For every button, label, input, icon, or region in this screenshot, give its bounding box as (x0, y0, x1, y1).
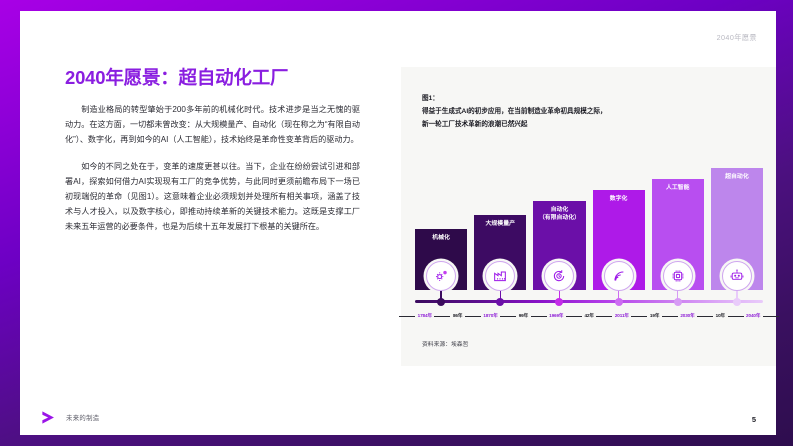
page-number: 5 (752, 415, 756, 424)
bar-label-6: 超自动化 (711, 174, 763, 182)
timeline-dash (596, 316, 612, 317)
timeline-year-2: 1870年 (483, 313, 497, 319)
bar-column: 人工智能 (652, 157, 704, 290)
bar-6: 超自动化 (711, 168, 763, 290)
axis-dot-4 (615, 298, 623, 306)
exhibit-caption: 图1： 得益于生成式AI的初步应用，在当前制造业革命初具规模之际， 新一轮工厂技… (422, 93, 607, 132)
timeline-dash (531, 316, 547, 317)
timeline-dash (500, 316, 516, 317)
axis-dot-5 (674, 298, 682, 306)
timeline-interval-2: 99年 (519, 313, 528, 319)
timeline-interval-5: 10年 (716, 313, 725, 319)
timeline-dash (728, 316, 744, 317)
timeline-year-6: 2040年 (746, 313, 760, 319)
evolution-bar-chart: 机械化大规模量产自动化 （有限自动化）数字化人工智能超自动化 1784年86年1… (415, 153, 763, 323)
timeline-interval-4: 19年 (650, 313, 659, 319)
bar-label-5: 人工智能 (652, 185, 704, 193)
exhibit-source: 资料来源：埃森哲 (422, 339, 468, 348)
timeline-dash (631, 316, 647, 317)
timeline-dash (763, 316, 779, 317)
timeline-year-4: 2011年 (615, 313, 629, 319)
page-title: 2040年愿景：超自动化工厂 (65, 66, 360, 89)
chart-bars: 机械化大规模量产自动化 （有限自动化）数字化人工智能超自动化 (415, 157, 763, 290)
bar-column: 数字化 (593, 157, 645, 290)
body-paragraph-2: 如今的不同之处在于，变革的速度更甚以往。当下，企业在纷纷尝试引进和部署AI，探索… (65, 160, 360, 235)
timeline-year-1: 1784年 (418, 313, 432, 319)
caption-line-2: 新一轮工厂技术革新的浪潮已然兴起 (422, 121, 528, 128)
footer-label: 未来的制造 (66, 413, 99, 422)
timeline-interval-3: 42年 (584, 313, 593, 319)
chart-timeline: 1784年86年1870年99年1969年42年2011年19年2030年10年… (415, 309, 763, 323)
caption-line-1: 得益于生成式AI的初步应用，在当前制造业革命初具规模之际， (422, 108, 607, 115)
axis-dot-3 (555, 298, 563, 306)
footer: 未来的制造 (40, 410, 99, 425)
slide-canvas: 2040年愿景 2040年愿景：超自动化工厂 制造业格局的转型肇始于200多年前… (20, 11, 776, 435)
bar-column: 超自动化 (711, 157, 763, 290)
axis-dot-6 (733, 298, 741, 306)
body-paragraph-1: 制造业格局的转型肇始于200多年前的机械化时代。技术进步是当之无愧的驱动力。在这… (65, 103, 360, 148)
bar-column: 自动化 （有限自动化） (533, 157, 585, 290)
bar-5: 人工智能 (652, 179, 704, 290)
bar-1: 机械化 (415, 229, 467, 290)
bar-2: 大规模量产 (474, 215, 526, 290)
left-text-column: 2040年愿景：超自动化工厂 制造业格局的转型肇始于200多年前的机械化时代。技… (65, 66, 360, 235)
chart-axis-line (415, 300, 763, 303)
bar-column: 大规模量产 (474, 157, 526, 290)
bar-label-2: 大规模量产 (474, 221, 526, 229)
slide-root: 2040年愿景 2040年愿景：超自动化工厂 制造业格局的转型肇始于200多年前… (0, 0, 793, 446)
timeline-year-5: 2030年 (680, 313, 694, 319)
timeline-dash (662, 316, 678, 317)
timeline-dash (465, 316, 481, 317)
bar-column: 机械化 (415, 157, 467, 290)
timeline-dash (697, 316, 713, 317)
timeline-dash (399, 316, 415, 317)
figure-label: 图1： (422, 95, 439, 102)
timeline-year-3: 1969年 (549, 313, 563, 319)
bar-label-4: 数字化 (593, 196, 645, 204)
bar-4: 数字化 (593, 190, 645, 290)
timeline-dash (566, 316, 582, 317)
axis-dot-1 (437, 298, 445, 306)
bar-label-1: 机械化 (415, 235, 467, 243)
exhibit-panel: 图1： 得益于生成式AI的初步应用，在当前制造业革命初具规模之际， 新一轮工厂技… (401, 67, 776, 366)
timeline-dash (434, 316, 450, 317)
running-header: 2040年愿景 (717, 33, 757, 43)
bar-3: 自动化 （有限自动化） (533, 201, 585, 290)
timeline-interval-1: 86年 (453, 313, 462, 319)
chevron-right-icon (40, 410, 57, 425)
axis-dot-2 (496, 298, 504, 306)
bar-label-3: 自动化 （有限自动化） (533, 207, 585, 223)
